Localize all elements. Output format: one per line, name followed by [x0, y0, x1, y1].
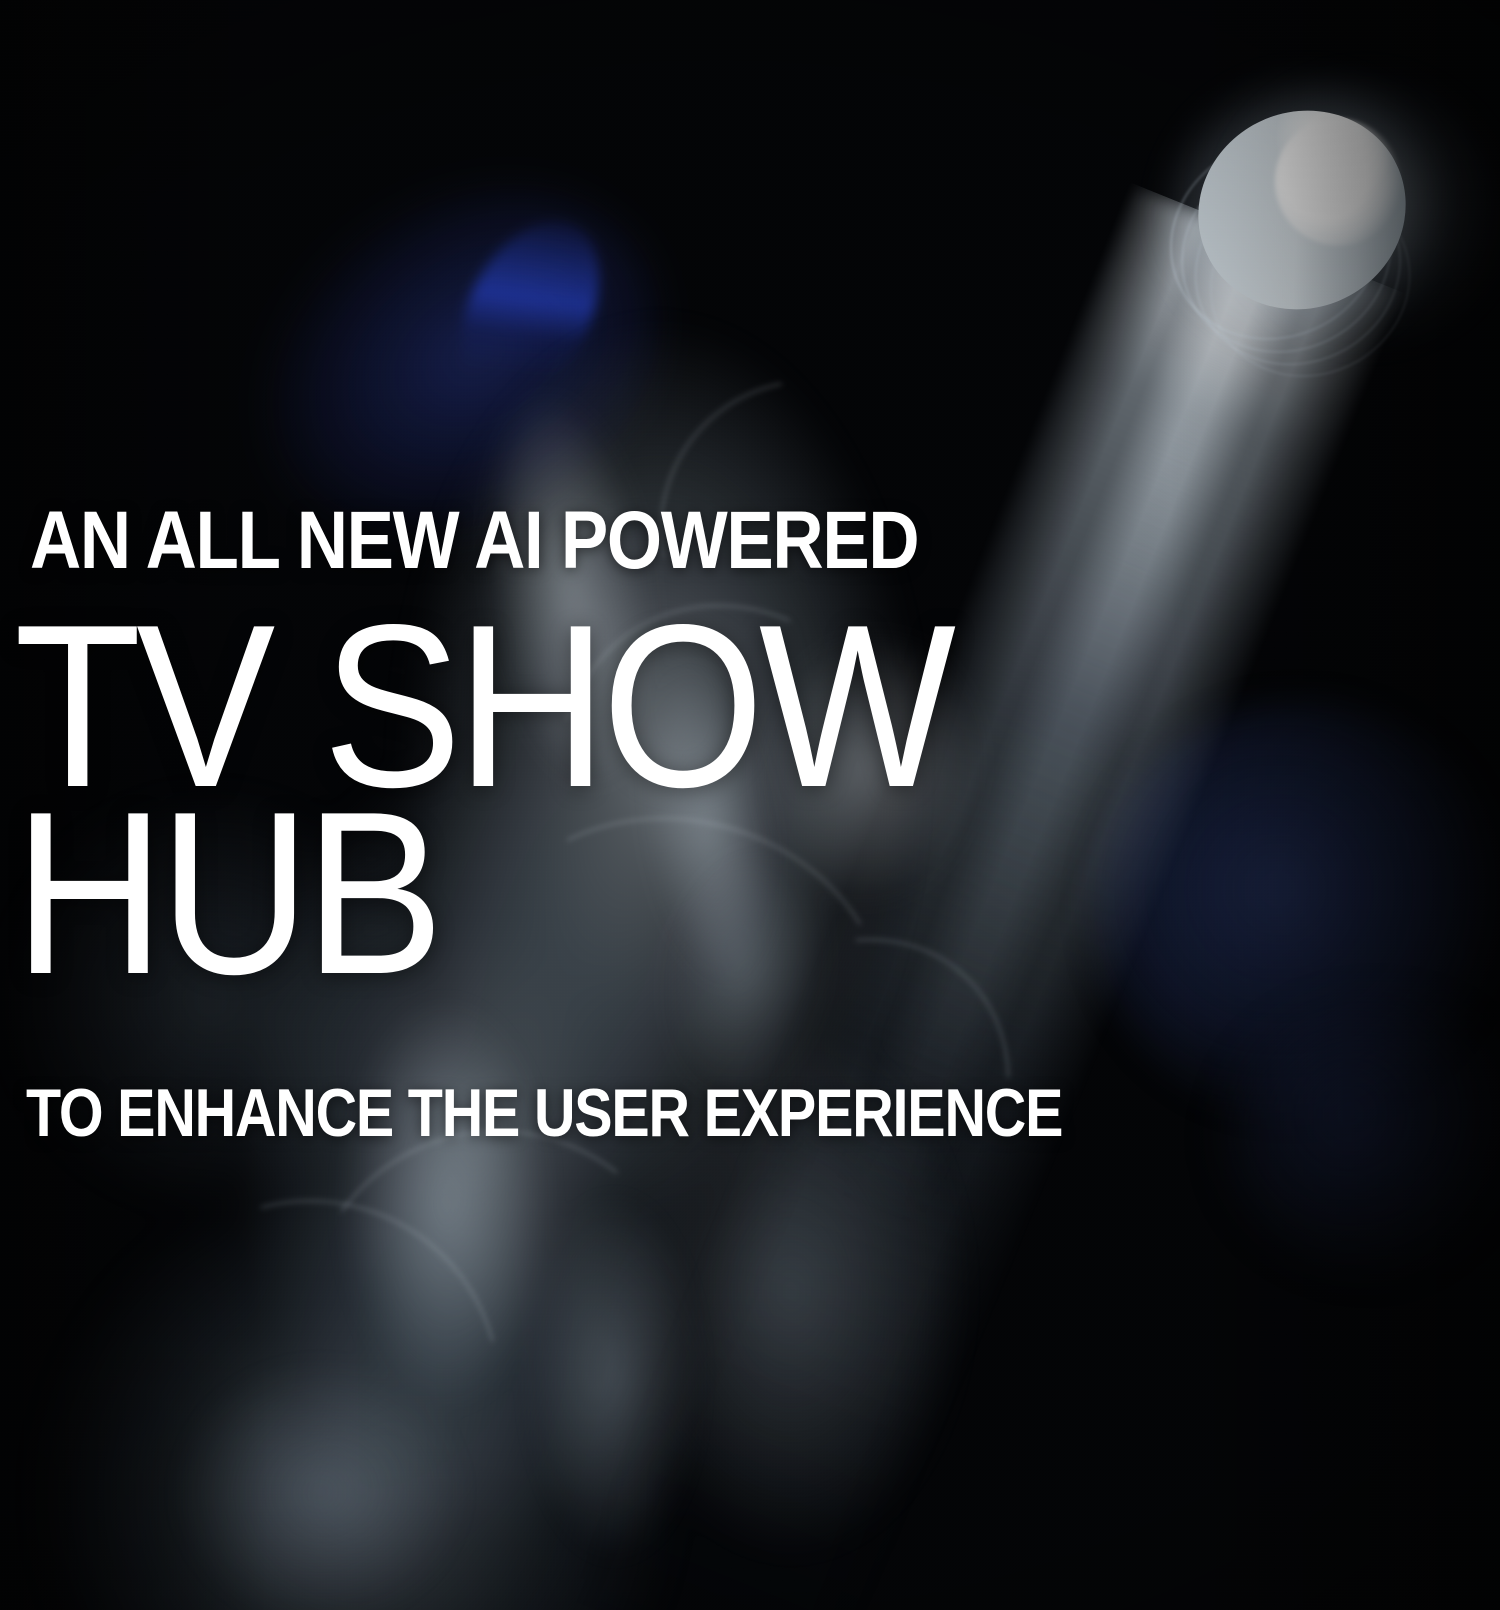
banner-copy: AN ALL NEW AI POWERED TV SHOWHUB TO ENHA… [0, 0, 1500, 1610]
hero-banner: AN ALL NEW AI POWERED TV SHOWHUB TO ENHA… [0, 0, 1500, 1610]
banner-subline: TO ENHANCE THE USER EXPERIENCE [26, 1081, 1062, 1146]
banner-title: TV SHOWHUB [14, 614, 951, 988]
banner-eyebrow: AN ALL NEW AI POWERED [30, 503, 918, 578]
banner-title-line-2: HUB [14, 764, 439, 1023]
